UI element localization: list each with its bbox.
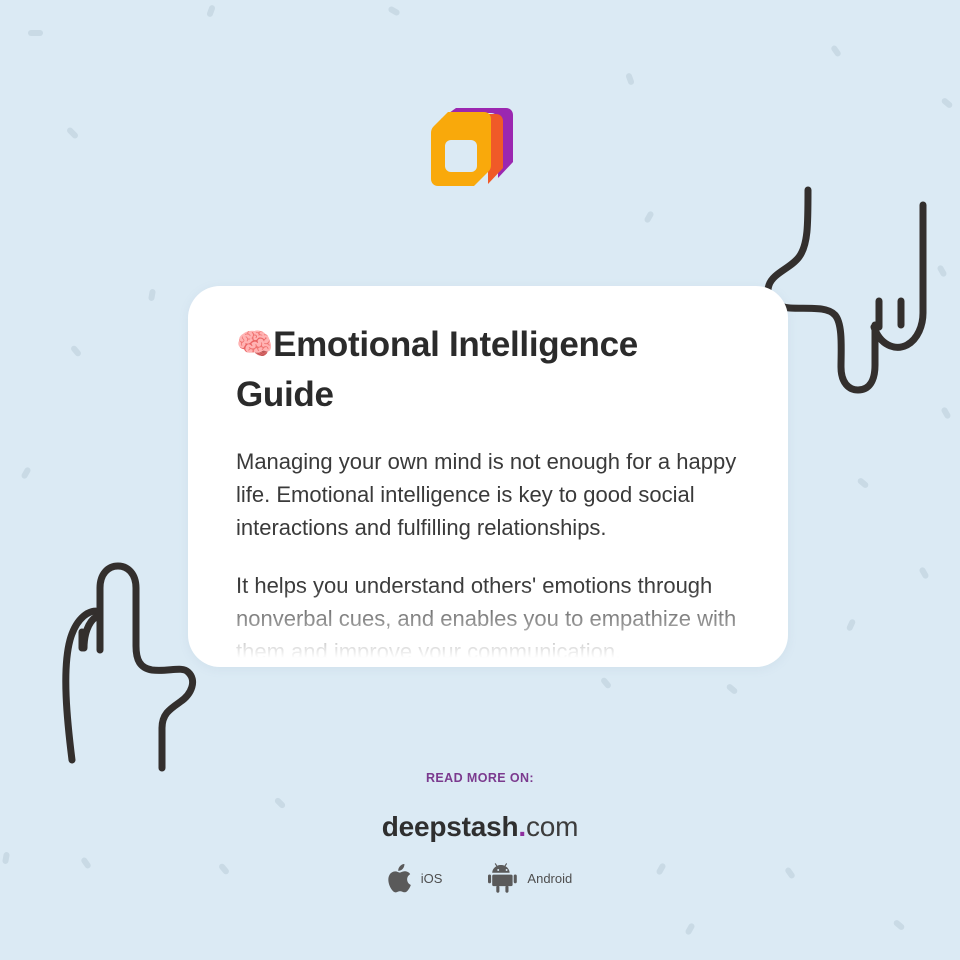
brand-dot: .	[518, 811, 526, 842]
ios-store-label: iOS	[421, 871, 443, 886]
android-icon	[488, 863, 518, 893]
card-paragraph-1: Managing your own mind is not enough for…	[236, 445, 740, 544]
confetti-speck	[28, 30, 43, 36]
brand-name: deepstash	[382, 811, 519, 842]
content-card: 🧠Emotional Intelligence Guide Managing y…	[188, 286, 788, 667]
pointing-up-hand-outline-icon	[22, 560, 212, 775]
read-more-label: READ MORE ON:	[0, 771, 960, 785]
confetti-speck	[70, 344, 82, 357]
confetti-speck	[148, 289, 156, 302]
page-title-text: Emotional Intelligence Guide	[236, 325, 638, 414]
store-badges: iOS Android	[0, 863, 960, 893]
confetti-speck	[625, 72, 635, 85]
confetti-speck	[846, 618, 857, 631]
confetti-speck	[66, 126, 79, 139]
confetti-speck	[387, 5, 400, 16]
confetti-speck	[684, 922, 695, 935]
brand-tld: com	[526, 811, 578, 842]
confetti-speck	[940, 406, 951, 419]
brain-icon: 🧠	[236, 328, 273, 361]
apple-icon	[388, 864, 412, 893]
card-paragraph-2: It helps you understand others' emotions…	[236, 569, 740, 667]
confetti-speck	[940, 97, 953, 109]
card-content-fade-wrapper: 🧠Emotional Intelligence Guide Managing y…	[188, 286, 788, 667]
confetti-speck	[918, 566, 929, 579]
confetti-speck	[600, 676, 612, 689]
confetti-speck	[206, 4, 216, 17]
confetti-speck	[892, 919, 905, 931]
confetti-speck	[830, 44, 842, 57]
page-title: 🧠Emotional Intelligence Guide	[236, 320, 740, 420]
android-store-label: Android	[527, 871, 572, 886]
ios-store-badge[interactable]: iOS	[388, 864, 443, 893]
confetti-speck	[274, 797, 287, 810]
confetti-speck	[936, 264, 947, 277]
confetti-speck	[725, 683, 738, 695]
confetti-speck	[20, 466, 31, 479]
confetti-speck	[856, 477, 869, 489]
android-store-badge[interactable]: Android	[488, 863, 572, 893]
confetti-speck	[643, 210, 654, 223]
brand-wordmark[interactable]: deepstash.com	[0, 811, 960, 843]
deepstash-logo	[428, 104, 520, 196]
